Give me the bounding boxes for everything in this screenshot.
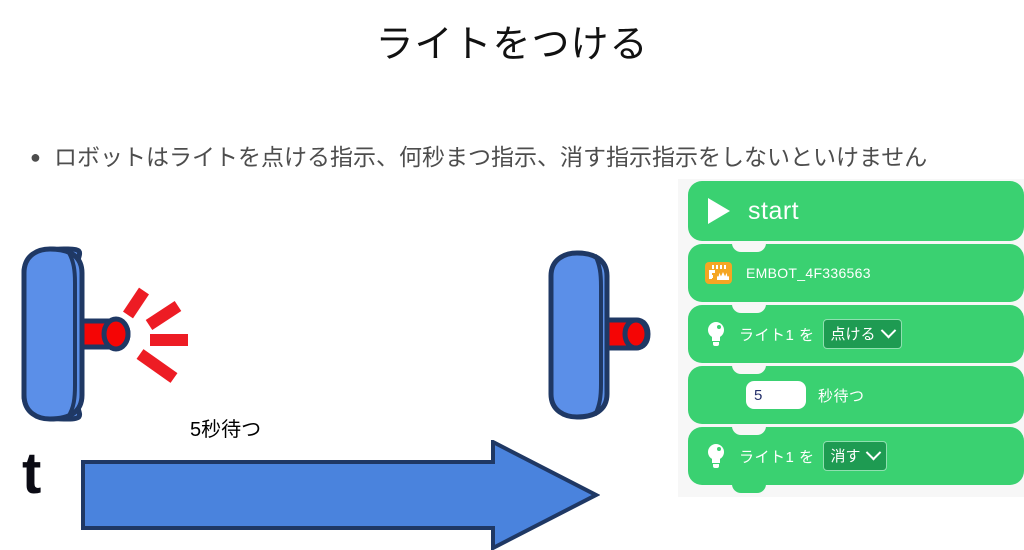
- time-arrow: [80, 440, 600, 550]
- bullet-text: ロボットはライトを点ける指示、何秒まつ指示、消す指示指示をしないといけません: [54, 138, 1020, 176]
- block-light-off[interactable]: ライト1 を 消す: [688, 427, 1024, 485]
- block-device[interactable]: EMBOT_4F336563: [688, 244, 1024, 302]
- block-notch: [732, 365, 766, 374]
- robot-led: [607, 320, 648, 348]
- robot-body: [551, 253, 607, 417]
- bullet-marker-icon: ●: [22, 138, 54, 176]
- bullet-item: ● ロボットはライトを点ける指示、何秒まつ指示、消す指示指示をしないといけません: [22, 138, 1024, 176]
- wait-seconds-input[interactable]: 5: [746, 381, 806, 409]
- slide-title: ライトをつける: [0, 22, 1024, 68]
- light-on-dropdown[interactable]: 点ける: [823, 319, 902, 349]
- robot-light-on: [12, 243, 232, 428]
- embot-icon: [705, 262, 732, 284]
- wait-duration-label: 5秒待つ: [190, 418, 261, 442]
- lightbulb-icon: [707, 322, 725, 346]
- light-off-dropdown[interactable]: 消す: [823, 441, 887, 471]
- block-light-off-text: ライト1 を: [739, 446, 815, 467]
- block-wait-text: 秒待つ: [818, 385, 865, 406]
- robot-led: [82, 319, 128, 349]
- block-light-on-text: ライト1 を: [739, 324, 815, 345]
- block-wait[interactable]: 5 秒待つ: [688, 366, 1024, 424]
- block-start-label: start: [748, 197, 799, 226]
- robot-light-off: [543, 248, 663, 423]
- block-tab: [732, 484, 766, 493]
- block-notch: [732, 304, 766, 313]
- block-device-label: EMBOT_4F336563: [746, 265, 871, 281]
- light-on-dropdown-value: 点ける: [831, 323, 876, 344]
- code-blocks-panel: start EMBOT_4F336563 ライト1 を 点ける 5 秒待つ ライ…: [678, 179, 1024, 497]
- light-off-dropdown-value: 消す: [831, 445, 861, 466]
- light-rays: [128, 291, 188, 378]
- block-start[interactable]: start: [688, 181, 1024, 241]
- time-axis-label: t: [22, 443, 41, 505]
- block-notch: [732, 426, 766, 435]
- play-icon: [708, 198, 730, 224]
- chevron-down-icon: [865, 445, 881, 461]
- chevron-down-icon: [880, 323, 896, 339]
- block-light-on[interactable]: ライト1 を 点ける: [688, 305, 1024, 363]
- robot-body: [24, 249, 82, 419]
- lightbulb-icon: [707, 444, 725, 468]
- block-notch: [732, 243, 766, 252]
